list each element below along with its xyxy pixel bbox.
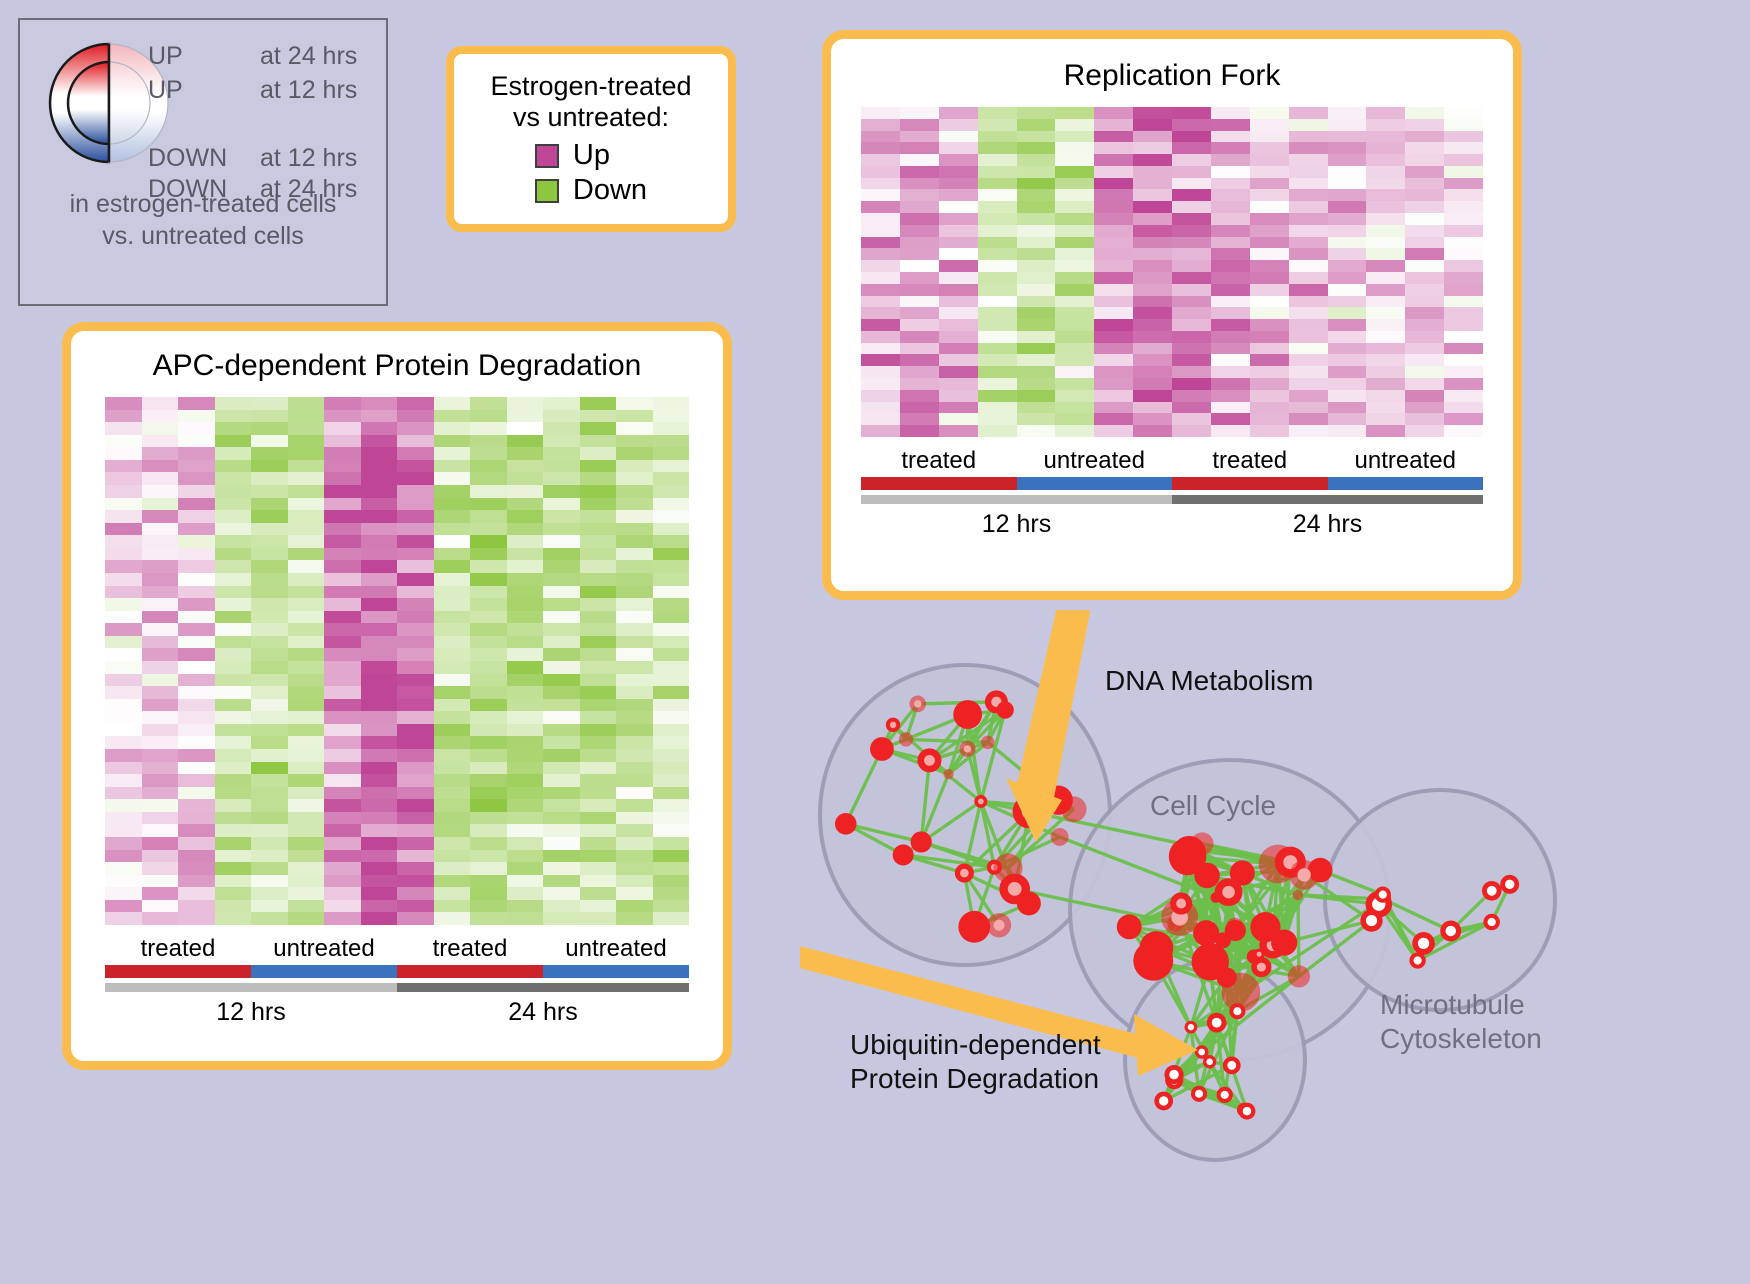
heatmap-cell [900, 319, 939, 331]
heatmap-cell [324, 837, 361, 850]
cluster-label-line1: Microtubule [1380, 988, 1542, 1022]
heatmap-cell [288, 510, 325, 523]
legend-time: at 24 hrs [260, 42, 357, 71]
heatmap-cell [1444, 248, 1483, 260]
heatmap-cell [1055, 260, 1094, 272]
heatmap-cell [105, 611, 142, 624]
heatmap-cell [324, 787, 361, 800]
heatmap-cell [939, 131, 978, 143]
heatmap-cell [1172, 413, 1211, 425]
color-bar-segment [251, 965, 397, 978]
heatmap-cell [1211, 390, 1250, 402]
heatmap-cell [616, 762, 653, 775]
heatmap-cell [1055, 307, 1094, 319]
heatmap-cell [397, 636, 434, 649]
heatmap-cell [507, 799, 544, 812]
network-node [870, 737, 894, 761]
heatmap-cell [288, 799, 325, 812]
heatmap-cell [580, 724, 617, 737]
heatmap-cell [105, 812, 142, 825]
heatmap-cell [978, 201, 1017, 213]
heatmap-cell [215, 661, 252, 674]
heatmap-cell [178, 623, 215, 636]
heatmap-cell [251, 711, 288, 724]
heatmap-cell [1444, 189, 1483, 201]
heatmap-cell [1094, 131, 1133, 143]
heatmap-cell [543, 736, 580, 749]
heatmap-cell [470, 674, 507, 687]
heatmap-cell [1405, 107, 1444, 119]
heatmap-cell [105, 699, 142, 712]
heatmap-cell [507, 472, 544, 485]
heatmap-cell [507, 736, 544, 749]
heatmap-cell [361, 485, 398, 498]
heatmap-cell [105, 799, 142, 812]
heatmap-cell [616, 498, 653, 511]
heatmap-cell [361, 636, 398, 649]
heatmap-cell [215, 762, 252, 775]
heatmap-cell [507, 648, 544, 661]
heatmap-cell [1366, 354, 1405, 366]
heatmap-cell [1328, 425, 1367, 437]
heatmap-cell [434, 862, 471, 875]
heatmap-cell [861, 343, 900, 355]
heatmap-cell [178, 611, 215, 624]
down-color-swatch [535, 179, 559, 203]
heatmap-cell [142, 850, 179, 863]
heatmap-cell [178, 875, 215, 888]
heatmap-cell [470, 749, 507, 762]
heatmap-cell [653, 850, 690, 863]
heatmap-cell [324, 912, 361, 925]
heatmap-cell [105, 397, 142, 410]
heatmap-cell [288, 762, 325, 775]
heatmap-cell [978, 237, 1017, 249]
heatmap-cell [1405, 201, 1444, 213]
heatmap-cell [1444, 378, 1483, 390]
heatmap-cell [543, 674, 580, 687]
heatmap-cell [470, 912, 507, 925]
heatmap-cell [507, 397, 544, 410]
heatmap-cell [1133, 402, 1172, 414]
heatmap-cell [507, 623, 544, 636]
heatmap-cell [215, 749, 252, 762]
heatmap-cell [251, 699, 288, 712]
heatmap-cell [1211, 248, 1250, 260]
heatmap-cell [215, 686, 252, 699]
heatmap-cell [470, 762, 507, 775]
network-node-core [960, 869, 969, 878]
network-node [1194, 863, 1220, 889]
heatmap-cell [1133, 425, 1172, 437]
heatmap-cell [900, 131, 939, 143]
heatmap-cell [1133, 213, 1172, 225]
network-node [1133, 941, 1173, 981]
heatmap-cell [1328, 119, 1367, 131]
heatmap-cell [251, 900, 288, 913]
heatmap-cell [142, 711, 179, 724]
heatmap-cell [470, 875, 507, 888]
heatmap-cell [361, 661, 398, 674]
heatmap-cell [397, 523, 434, 536]
heatmap-cell [1133, 201, 1172, 213]
heatmap-cell [251, 887, 288, 900]
network-node-core [1198, 1049, 1205, 1056]
heatmap-cell [361, 824, 398, 837]
heatmap-cell [1211, 189, 1250, 201]
heatmap-cell [470, 548, 507, 561]
heatmap-cell [178, 435, 215, 448]
heatmap-cell [1250, 248, 1289, 260]
heatmap-cell [361, 749, 398, 762]
heatmap-cell [861, 178, 900, 190]
heatmap-cell [324, 674, 361, 687]
heatmap-cell [1328, 413, 1367, 425]
heatmap-cell [1094, 225, 1133, 237]
time-labels-replication: 12 hrs 24 hrs [861, 510, 1483, 539]
heatmap-cell [939, 284, 978, 296]
heatmap-cell [434, 422, 471, 435]
heatmap-cell [507, 573, 544, 586]
heatmap-cell [1017, 354, 1056, 366]
heatmap-cell [470, 523, 507, 536]
heatmap-cell [1366, 425, 1405, 437]
heatmap-cell [580, 523, 617, 536]
heatmap-cell [251, 736, 288, 749]
heatmap-cell [251, 397, 288, 410]
heatmap-cell [653, 447, 690, 460]
heatmap-cell [324, 736, 361, 749]
heatmap-cell [543, 850, 580, 863]
heatmap-cell [324, 523, 361, 536]
heatmap-cell [397, 410, 434, 423]
heatmap-cell [1366, 237, 1405, 249]
heatmap-cell [251, 774, 288, 787]
heatmap-cell [470, 724, 507, 737]
heatmap-cell [470, 498, 507, 511]
heatmap-cell [543, 485, 580, 498]
heatmap-cell [434, 485, 471, 498]
heatmap-cell [142, 548, 179, 561]
heatmap-cell [434, 736, 471, 749]
heatmap-cell [1094, 119, 1133, 131]
heatmap-cell [178, 900, 215, 913]
updown-key-title-line2: vs untreated: [513, 102, 669, 133]
heatmap-cell [543, 498, 580, 511]
heatmap-cell [1017, 413, 1056, 425]
heatmap-cell [434, 912, 471, 925]
heatmap-cell [142, 774, 179, 787]
heatmap-cell [361, 875, 398, 888]
heatmap-cell [543, 586, 580, 599]
heatmap-cell [616, 648, 653, 661]
heatmap-cell [1172, 354, 1211, 366]
heatmap-cell [215, 560, 252, 573]
heatmap-cell [861, 425, 900, 437]
heatmap-cell [1172, 213, 1211, 225]
heatmap-cell [470, 799, 507, 812]
heatmap-cell [105, 724, 142, 737]
heatmap-cell [251, 498, 288, 511]
heatmap-cell [178, 560, 215, 573]
up-color-swatch [535, 144, 559, 168]
heatmap-cell [1094, 296, 1133, 308]
heatmap-cell [361, 548, 398, 561]
heatmap-cell [361, 498, 398, 511]
heatmap-cell [434, 850, 471, 863]
heatmap-cell [939, 248, 978, 260]
network-node [1288, 965, 1310, 987]
heatmap-cell [142, 410, 179, 423]
heatmap-cell [978, 402, 1017, 414]
heatmap-cell [1094, 107, 1133, 119]
heatmap-cell [324, 799, 361, 812]
heatmap-cell [251, 674, 288, 687]
heatmap-cell [978, 131, 1017, 143]
heatmap-cell [215, 498, 252, 511]
heatmap-cell [861, 413, 900, 425]
heatmap-cell [653, 523, 690, 536]
heatmap-cell [861, 378, 900, 390]
heatmap-cell [397, 623, 434, 636]
heatmap-cell [861, 213, 900, 225]
heatmap-cell [1094, 260, 1133, 272]
heatmap-cell [434, 498, 471, 511]
heatmap-cell [1444, 390, 1483, 402]
heatmap-cell [653, 397, 690, 410]
heatmap-cell [397, 774, 434, 787]
heatmap-cell [251, 422, 288, 435]
heatmap-cell [215, 623, 252, 636]
heatmap-cell [616, 661, 653, 674]
heatmap-cell [288, 460, 325, 473]
heatmap-cell [616, 397, 653, 410]
heatmap-cell [1405, 296, 1444, 308]
heatmap-cell [580, 485, 617, 498]
heatmap-cell [1405, 237, 1444, 249]
heatmap-cell [861, 331, 900, 343]
network-node [1293, 890, 1303, 900]
heatmap-cell [939, 189, 978, 201]
heatmap-cell [361, 837, 398, 850]
heatmap-cell [1328, 366, 1367, 378]
heatmap-cell [434, 812, 471, 825]
heatmap-cell [1328, 402, 1367, 414]
heatmap-cell [1055, 189, 1094, 201]
heatmap-cell [616, 447, 653, 460]
heatmap-cell [1211, 366, 1250, 378]
heatmap-cell [105, 850, 142, 863]
heatmap-cell [434, 397, 471, 410]
heatmap-cell [178, 711, 215, 724]
heatmap-cell [1133, 319, 1172, 331]
heatmap-cell [105, 548, 142, 561]
heatmap-cell [397, 560, 434, 573]
heatmap-cell [616, 460, 653, 473]
heatmap-cell [939, 225, 978, 237]
heatmap-cell [616, 862, 653, 875]
heatmap-cell [1444, 402, 1483, 414]
heatmap-cell [1094, 272, 1133, 284]
heatmap-cell [1250, 237, 1289, 249]
heatmap-cell [507, 548, 544, 561]
heatmap-cell [215, 598, 252, 611]
heatmap-cell [1055, 201, 1094, 213]
heatmap-cell [580, 560, 617, 573]
heatmap-cell [434, 586, 471, 599]
heatmap-cell [900, 413, 939, 425]
heatmap-cell [215, 812, 252, 825]
heatmap-cell [1250, 307, 1289, 319]
colorwheel-legend-box: UP at 24 hrs UP at 12 hrs DOWN at 12 hrs… [18, 18, 388, 306]
heatmap-cell [616, 787, 653, 800]
heatmap-cell [1017, 119, 1056, 131]
heatmap-cell [361, 586, 398, 599]
heatmap-cell [1017, 402, 1056, 414]
network-node-core [1487, 886, 1497, 896]
heatmap-cell [616, 435, 653, 448]
heatmap-cell [580, 799, 617, 812]
heatmap-cell [616, 736, 653, 749]
heatmap-cell [105, 535, 142, 548]
heatmap-cell [288, 623, 325, 636]
heatmap-cell [616, 535, 653, 548]
heatmap-cell [142, 648, 179, 661]
heatmap-cell [142, 598, 179, 611]
heatmap-cell [616, 774, 653, 787]
heatmap-cell [434, 787, 471, 800]
network-node-core [1446, 926, 1456, 936]
heatmap-cell [978, 366, 1017, 378]
heatmap-cell [1017, 343, 1056, 355]
condition-labels-replication: treated untreated treated untreated [861, 447, 1483, 475]
heatmap-cell [507, 435, 544, 448]
heatmap-cell [653, 535, 690, 548]
heatmap-cell [978, 189, 1017, 201]
condition-color-bar-apc [105, 965, 689, 978]
heatmap-cell [1211, 119, 1250, 131]
heatmap-cell [1017, 378, 1056, 390]
heatmap-cell [361, 535, 398, 548]
heatmap-cell [1250, 119, 1289, 131]
heatmap-cell [861, 402, 900, 414]
heatmap-cell [105, 498, 142, 511]
panel-title: Replication Fork [831, 59, 1513, 93]
heatmap-cell [324, 623, 361, 636]
heatmap-cell [543, 812, 580, 825]
heatmap-cell [1172, 237, 1211, 249]
network-node-core [1212, 1018, 1222, 1028]
heatmap-cell [507, 661, 544, 674]
heatmap-cell [1172, 402, 1211, 414]
heatmap-cell [1055, 390, 1094, 402]
heatmap-cell [288, 875, 325, 888]
heatmap-cell [1017, 107, 1056, 119]
heatmap-cell [543, 862, 580, 875]
heatmap-cell [1328, 166, 1367, 178]
heatmap-cell [1405, 142, 1444, 154]
cluster-label-line2: Cytoskeleton [1380, 1022, 1542, 1056]
heatmap-cell [324, 435, 361, 448]
heatmap-cell [324, 535, 361, 548]
heatmap-cell [580, 736, 617, 749]
heatmap-cell [178, 636, 215, 649]
heatmap-cell [1133, 178, 1172, 190]
heatmap-cell [580, 762, 617, 775]
heatmap-cell [397, 875, 434, 888]
heatmap-cell [507, 837, 544, 850]
heatmap-cell [861, 319, 900, 331]
heatmap-cell [470, 736, 507, 749]
heatmap-cell [900, 402, 939, 414]
heatmap-cell [288, 422, 325, 435]
heatmap-cell [1055, 331, 1094, 343]
heatmap-cell [251, 749, 288, 762]
heatmap-cell [470, 711, 507, 724]
heatmap-cell [543, 636, 580, 649]
heatmap-cell [142, 636, 179, 649]
heatmap-cell [470, 686, 507, 699]
heatmap-cell [1444, 142, 1483, 154]
heatmap-cell [361, 435, 398, 448]
heatmap-cell [288, 548, 325, 561]
heatmap-cell [288, 447, 325, 460]
heatmap-cell [434, 887, 471, 900]
heatmap-cell [580, 787, 617, 800]
heatmap-cell [900, 390, 939, 402]
heatmap-cell [288, 699, 325, 712]
heatmap-cell [507, 498, 544, 511]
heatmap-cell [1055, 213, 1094, 225]
heatmap-cell [288, 887, 325, 900]
key-row-up: Up [535, 139, 647, 172]
heatmap-cell [939, 425, 978, 437]
heatmap-cell [251, 812, 288, 825]
heatmap-cell [543, 598, 580, 611]
heatmap-cell [397, 498, 434, 511]
heatmap-cell [1211, 284, 1250, 296]
heatmap-cell [215, 410, 252, 423]
heatmap-cell [1366, 131, 1405, 143]
heatmap-cell [288, 912, 325, 925]
heatmap-cell [939, 237, 978, 249]
heatmap-cell [434, 447, 471, 460]
heatmap-cell [861, 354, 900, 366]
heatmap-cell [939, 119, 978, 131]
heatmap-cell [1289, 131, 1328, 143]
heatmap-cell [142, 887, 179, 900]
network-node [943, 769, 953, 779]
heatmap-cell [178, 724, 215, 737]
heatmap-cell [1055, 119, 1094, 131]
heatmap-cell [580, 812, 617, 825]
heatmap-cell [507, 812, 544, 825]
heatmap-cell [1094, 354, 1133, 366]
heatmap-cell [1250, 425, 1289, 437]
color-bar-segment [1017, 477, 1173, 490]
heatmap-cell [178, 912, 215, 925]
heatmap-cell [653, 586, 690, 599]
heatmap-cell [939, 178, 978, 190]
heatmap-cell [543, 447, 580, 460]
heatmap-cell [580, 447, 617, 460]
heatmap-cell [1211, 296, 1250, 308]
heatmap-cell [1289, 307, 1328, 319]
heatmap-cell [580, 535, 617, 548]
heatmap-cell [324, 510, 361, 523]
heatmap-cell [1289, 225, 1328, 237]
heatmap-cell [1094, 413, 1133, 425]
